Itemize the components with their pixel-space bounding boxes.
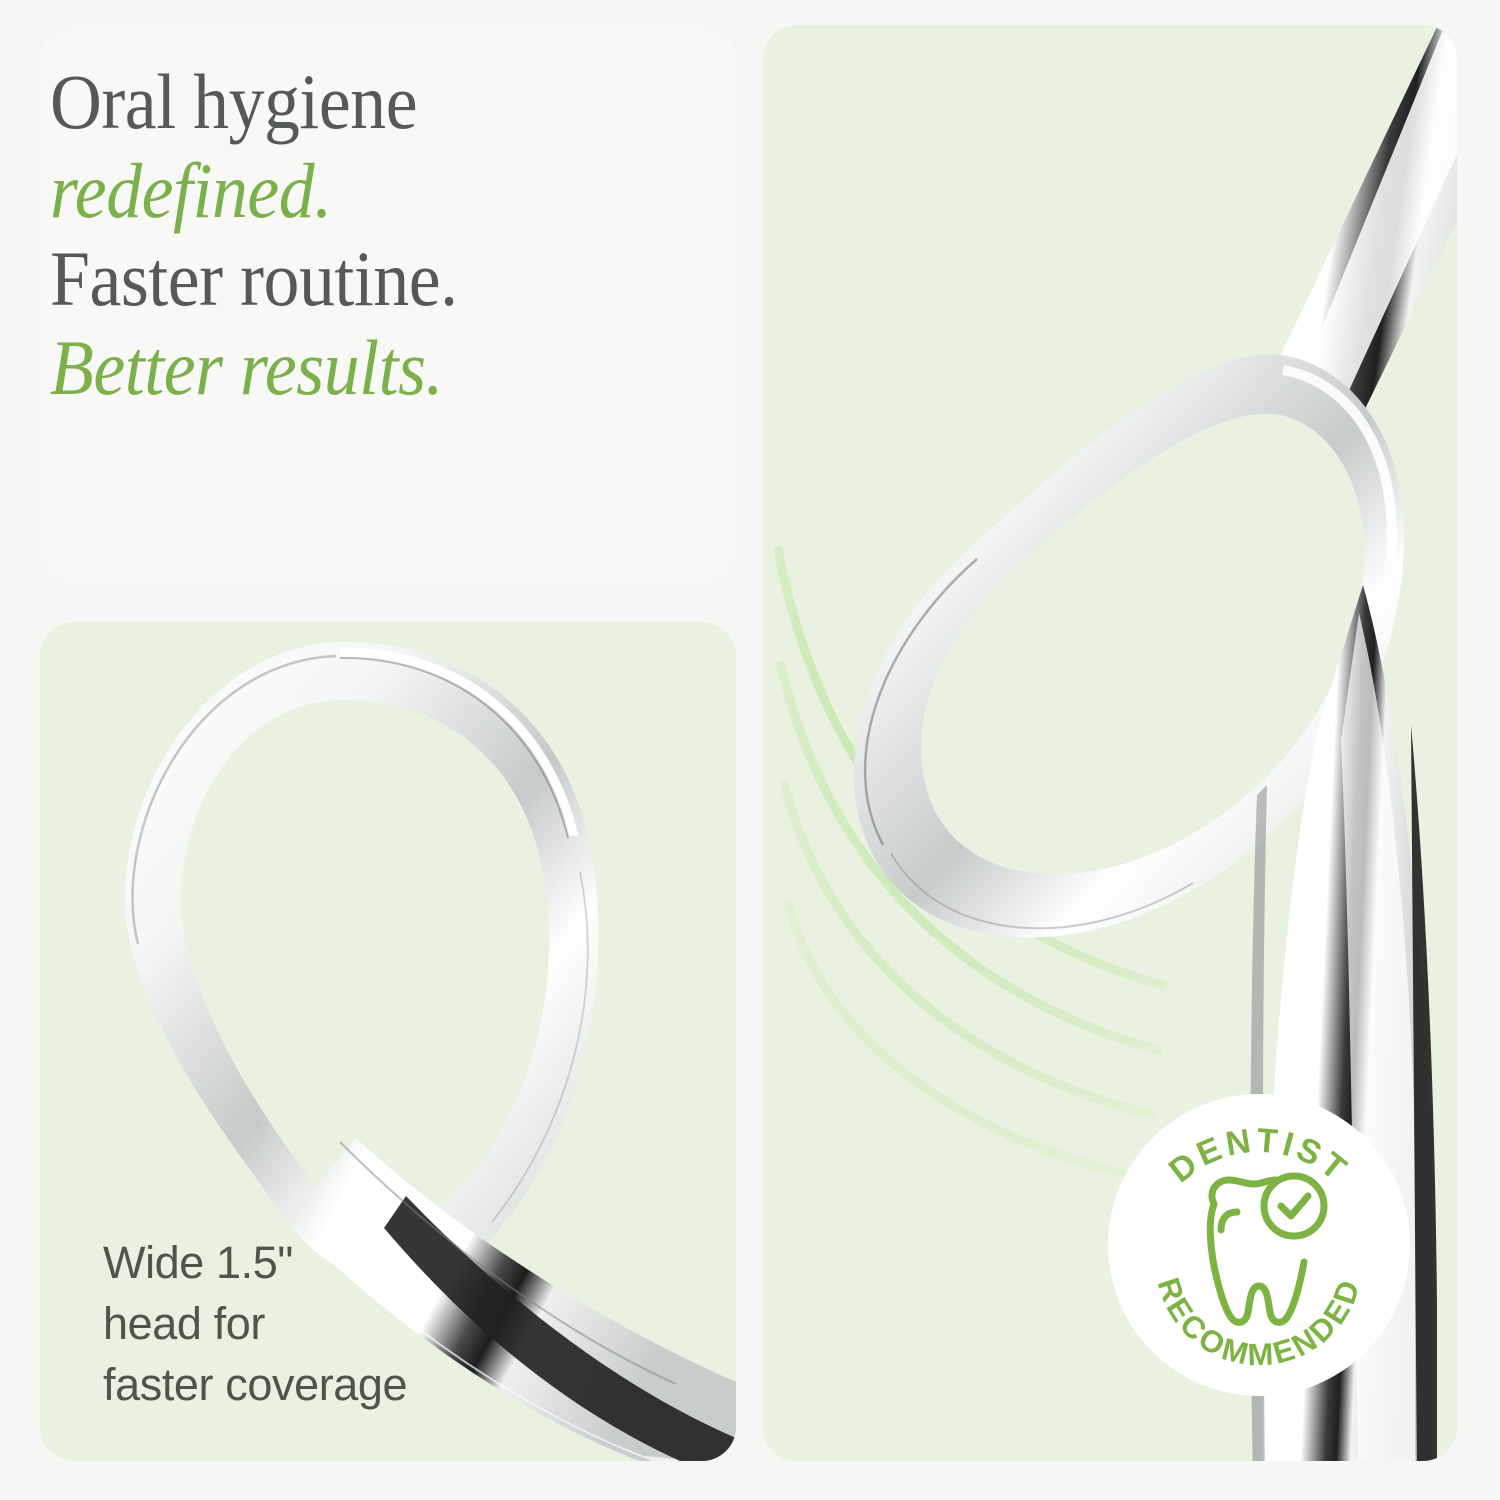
headline-line-4: Better results. [50, 324, 630, 413]
headline-line-1: Oral hygiene [50, 58, 630, 147]
wide-head-panel: Wide 1.5" head for faster coverage [40, 622, 736, 1461]
caption-bl-line-3: faster coverage [103, 1354, 553, 1415]
headline-line-2: redefined. [50, 147, 630, 236]
panel-bottom-left-caption: Wide 1.5" head for faster coverage [103, 1232, 553, 1416]
headline-block: Oral hygiene redefined. Faster routine. … [50, 58, 680, 412]
dentist-recommended-badge: DENTIST RECOMMENDED [1108, 1094, 1410, 1396]
product-marketing-image: Oral hygiene redefined. Faster routine. … [0, 0, 1500, 1500]
headline-line-3: Faster routine. [50, 235, 630, 324]
badge-svg: DENTIST RECOMMENDED [1108, 1094, 1410, 1396]
caption-bl-line-1: Wide 1.5" [103, 1232, 553, 1293]
caption-bl-line-2: head for [103, 1293, 553, 1354]
